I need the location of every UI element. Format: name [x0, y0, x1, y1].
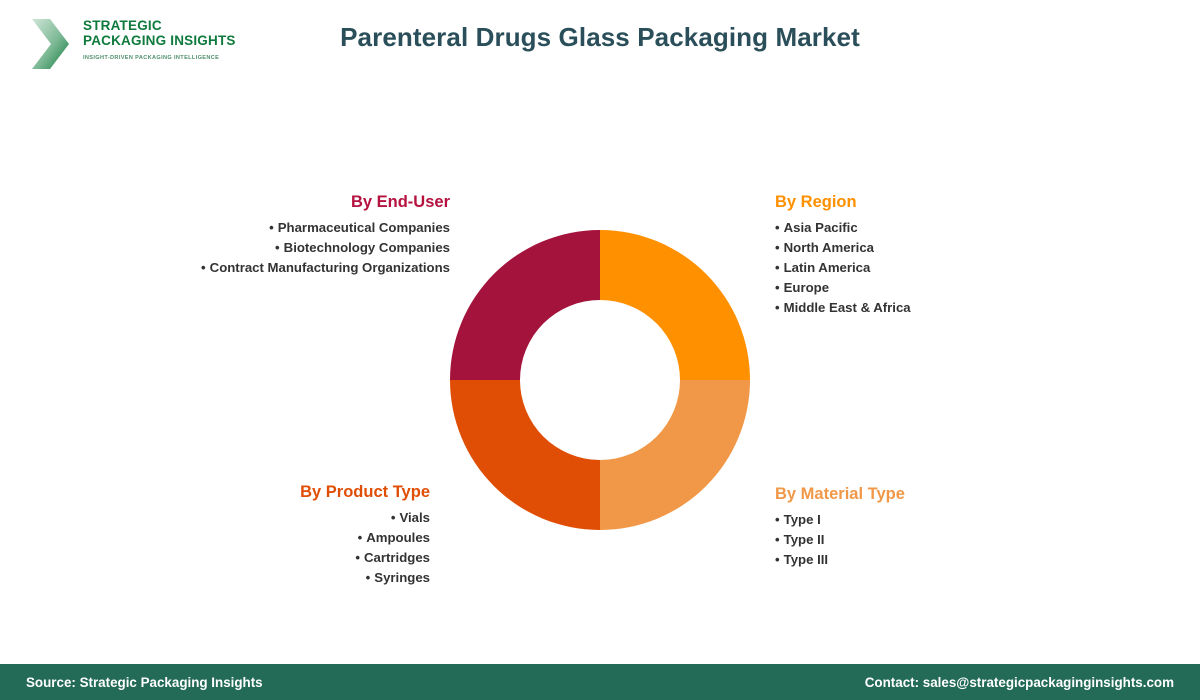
donut-segment-material-type[interactable]	[600, 380, 750, 530]
donut-segment-product-type[interactable]	[450, 380, 600, 530]
logo-tagline: INSIGHT-DRIVEN PACKAGING INTELLIGENCE	[83, 55, 233, 61]
list-item: •Syringes	[40, 568, 430, 588]
list-item-label: Europe	[784, 280, 829, 295]
list-item: •North America	[775, 238, 1175, 258]
segment-group-end-user: By End-User •Pharmaceutical Companies •B…	[40, 192, 450, 278]
list-item-label: Asia Pacific	[784, 220, 858, 235]
segment-title-material-type: By Material Type	[775, 484, 1175, 504]
list-item: •Contract Manufacturing Organizations	[40, 258, 450, 278]
segment-list-product-type: •Vials •Ampoules •Cartridges •Syringes	[40, 508, 430, 588]
list-item-label: Type I	[784, 512, 821, 527]
list-item: •Type II	[775, 530, 1175, 550]
list-item: •Pharmaceutical Companies	[40, 218, 450, 238]
donut-segment-region[interactable]	[600, 230, 750, 380]
bullet-icon: •	[355, 550, 364, 565]
list-item-label: North America	[784, 240, 874, 255]
list-item: •Biotechnology Companies	[40, 238, 450, 258]
bullet-icon: •	[775, 300, 784, 315]
bullet-icon: •	[775, 260, 784, 275]
donut-segment-end-user[interactable]	[450, 230, 600, 380]
bullet-icon: •	[269, 220, 278, 235]
list-item: •Type III	[775, 550, 1175, 570]
page-title: Parenteral Drugs Glass Packaging Market	[0, 22, 1200, 53]
list-item-label: Type III	[784, 552, 828, 567]
list-item-label: Vials	[399, 510, 430, 525]
bullet-icon: •	[775, 220, 784, 235]
bullet-icon: •	[775, 280, 784, 295]
list-item: •Asia Pacific	[775, 218, 1175, 238]
list-item-label: Latin America	[784, 260, 871, 275]
segment-title-product-type: By Product Type	[40, 482, 430, 502]
list-item-label: Biotechnology Companies	[284, 240, 450, 255]
bullet-icon: •	[275, 240, 284, 255]
list-item-label: Pharmaceutical Companies	[278, 220, 450, 235]
list-item-label: Contract Manufacturing Organizations	[210, 260, 450, 275]
footer-contact[interactable]: Contact: sales@strategicpackaginginsight…	[865, 675, 1174, 690]
bullet-icon: •	[775, 532, 784, 547]
bullet-icon: •	[775, 552, 784, 567]
segment-group-material-type: By Material Type •Type I •Type II •Type …	[775, 484, 1175, 570]
segment-list-material-type: •Type I •Type II •Type III	[775, 510, 1175, 570]
segment-title-region: By Region	[775, 192, 1175, 212]
footer-bar: Source: Strategic Packaging Insights Con…	[0, 664, 1200, 700]
list-item-label: Syringes	[374, 570, 430, 585]
bullet-icon: •	[201, 260, 210, 275]
list-item: •Europe	[775, 278, 1175, 298]
list-item: •Middle East & Africa	[775, 298, 1175, 318]
list-item: •Cartridges	[40, 548, 430, 568]
bullet-icon: •	[366, 570, 375, 585]
list-item-label: Ampoules	[366, 530, 430, 545]
footer-source: Source: Strategic Packaging Insights	[26, 675, 263, 690]
segment-group-product-type: By Product Type •Vials •Ampoules •Cartri…	[40, 482, 430, 588]
bullet-icon: •	[358, 530, 367, 545]
segment-list-region: •Asia Pacific •North America •Latin Amer…	[775, 218, 1175, 318]
list-item: •Type I	[775, 510, 1175, 530]
list-item: •Ampoules	[40, 528, 430, 548]
list-item-label: Middle East & Africa	[784, 300, 911, 315]
segment-group-region: By Region •Asia Pacific •North America •…	[775, 192, 1175, 318]
list-item: •Vials	[40, 508, 430, 528]
bullet-icon: •	[775, 240, 784, 255]
segment-list-end-user: •Pharmaceutical Companies •Biotechnology…	[40, 218, 450, 278]
list-item-label: Type II	[784, 532, 825, 547]
list-item-label: Cartridges	[364, 550, 430, 565]
logo-underline-divider	[30, 71, 216, 74]
list-item: •Latin America	[775, 258, 1175, 278]
donut-chart	[450, 230, 750, 530]
bullet-icon: •	[775, 512, 784, 527]
segment-title-end-user: By End-User	[40, 192, 450, 212]
